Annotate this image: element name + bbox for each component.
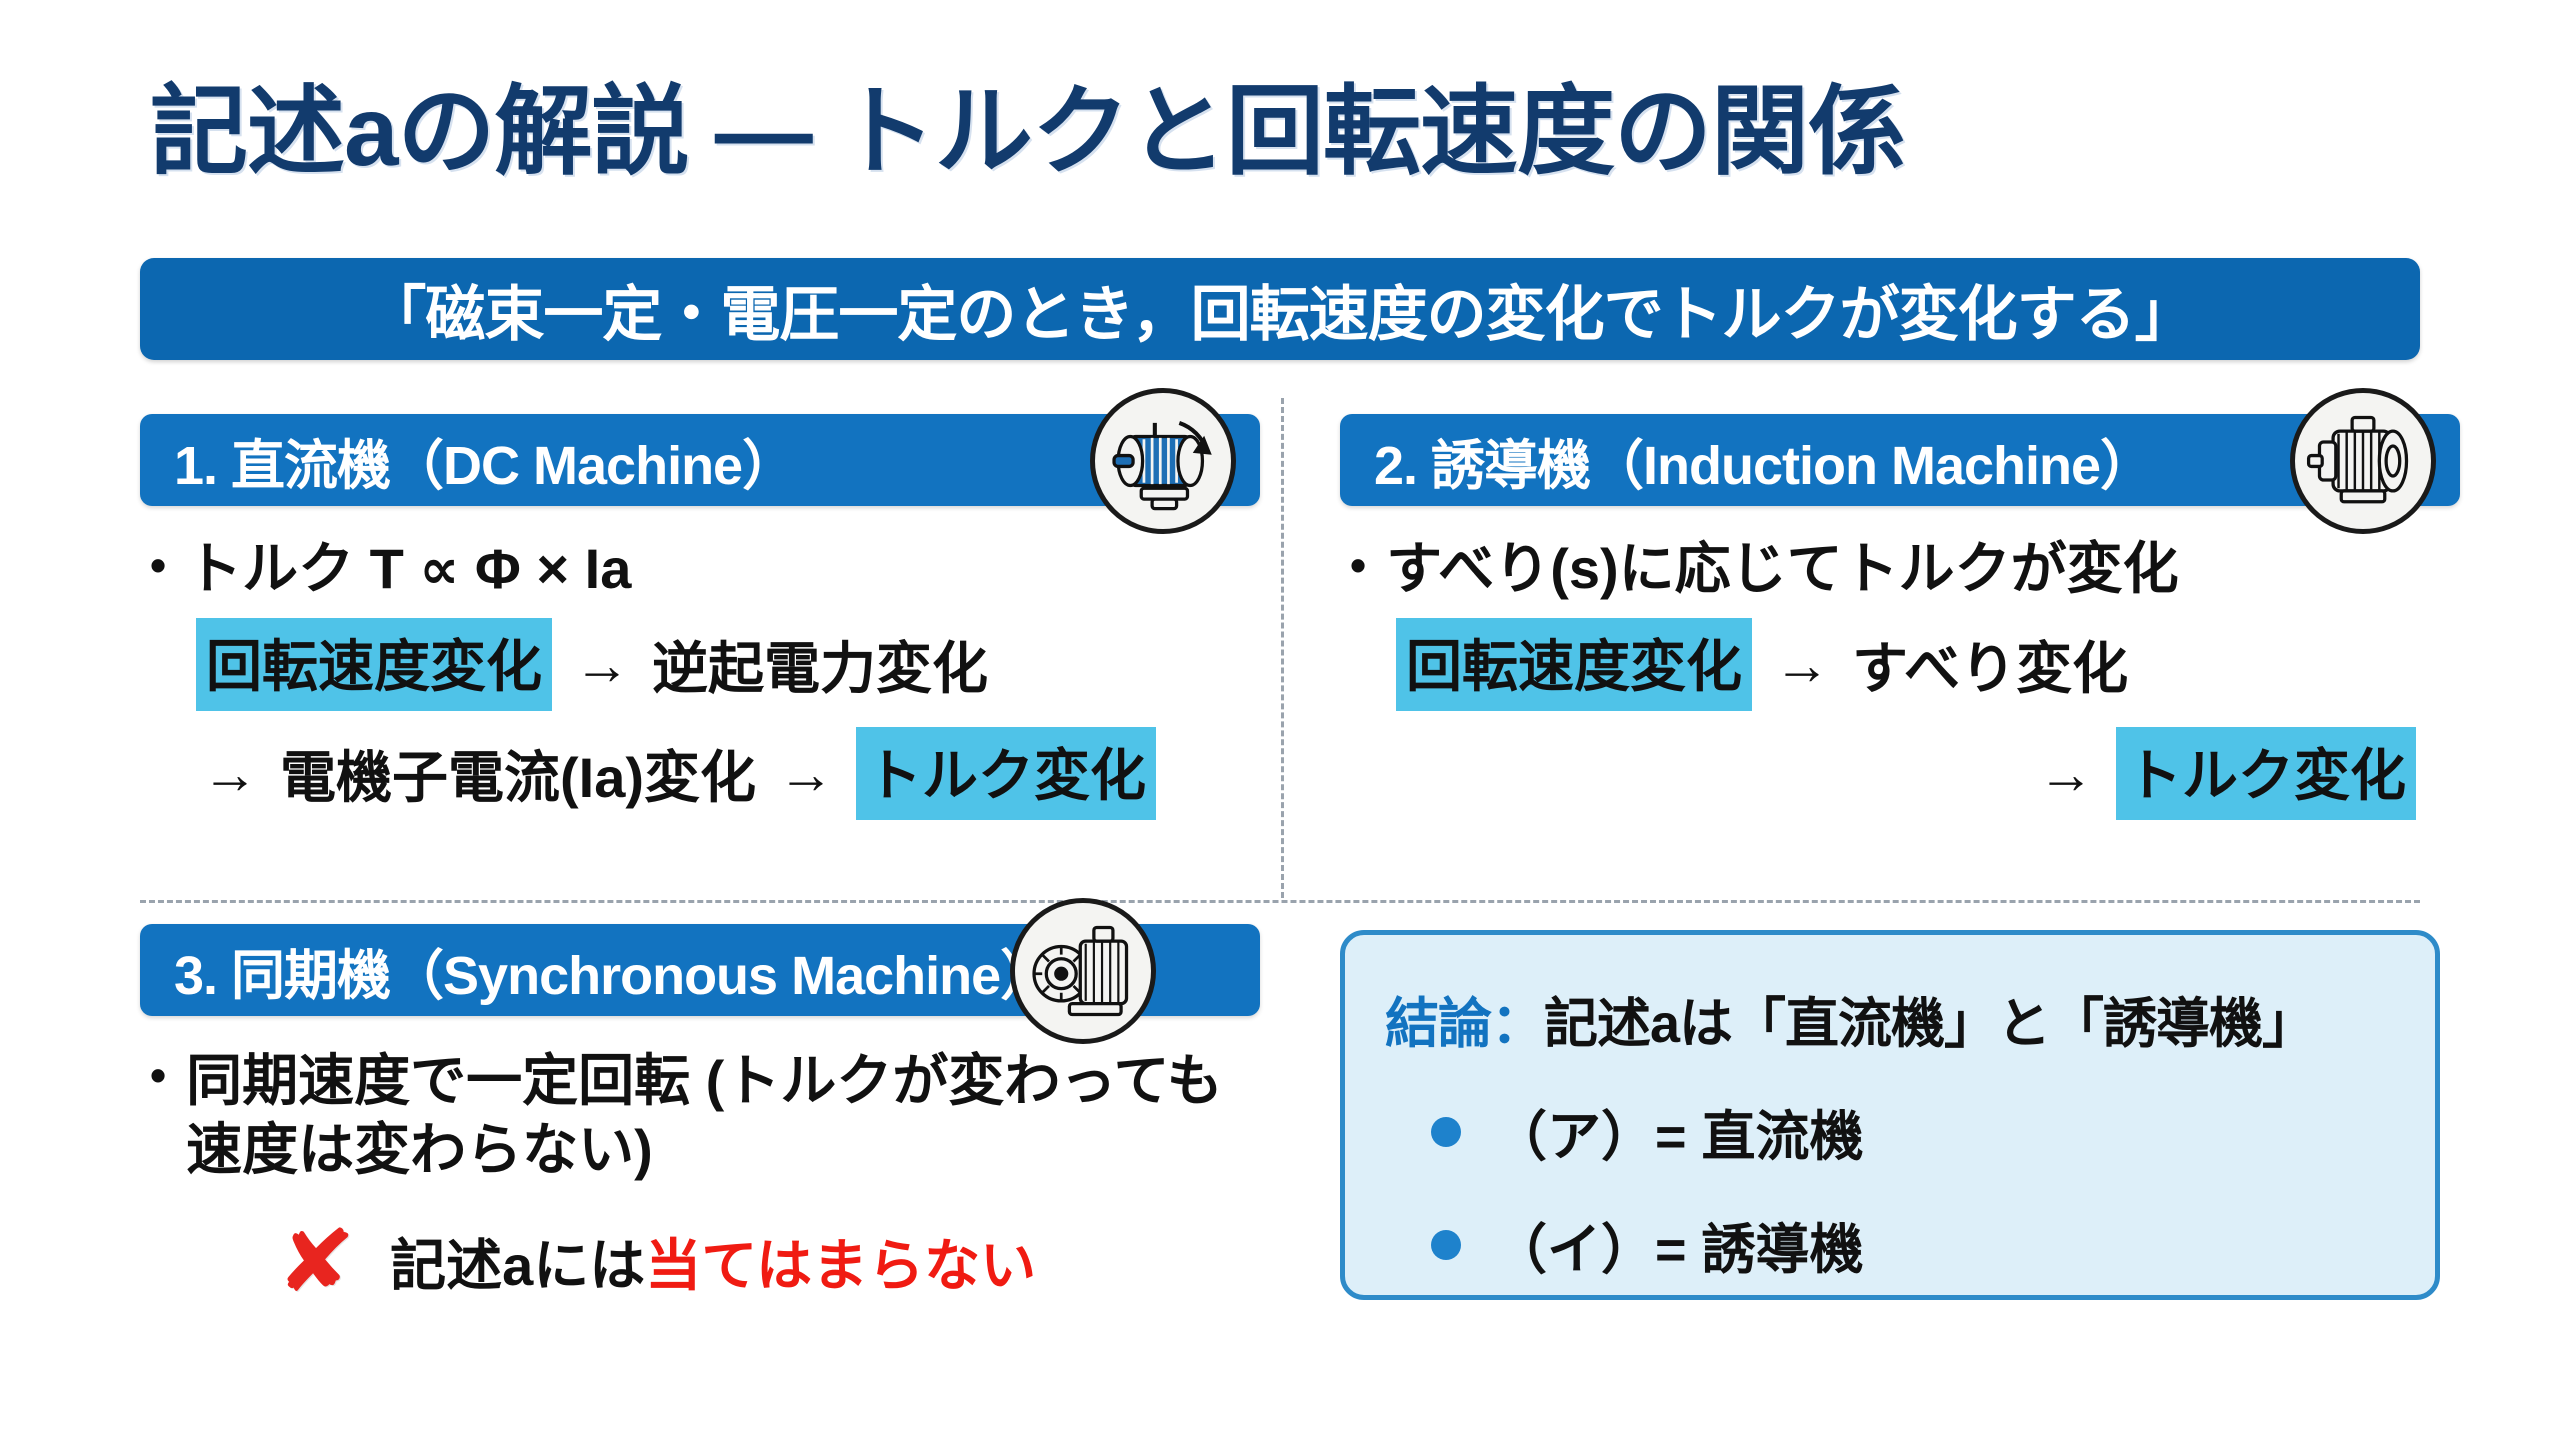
induction-bullet-text: すべり(s)に応じてトルクが変化 xyxy=(1386,536,2179,602)
induction-bullet: • すべり(s)に応じてトルクが変化 xyxy=(1340,536,2460,602)
dc-motor-icon xyxy=(1090,388,1236,534)
horizontal-divider xyxy=(140,900,2420,903)
conclusion-headline-rest: 記述aは「直流機」と「誘導機」 xyxy=(1544,994,2315,1054)
induction-flow1-tail: すべり変化 xyxy=(1852,624,2128,705)
sync-verdict-black: 記述aには xyxy=(390,1234,645,1297)
cross-mark-icon: ✘ xyxy=(276,1219,357,1305)
section-dc-machine: 1. 直流機（DC Machine） • トルク T ∝ Φ × xyxy=(140,414,1260,820)
sync-bullet: • 同期速度で一定回転 (トルクが変わっても速度は変わらない) xyxy=(140,1046,1260,1185)
bullet-circle-icon xyxy=(1431,1117,1461,1147)
section-header-induction: 2. 誘導機（Induction Machine） xyxy=(1340,414,2460,506)
conclusion-item-a: （ア）= 直流機 xyxy=(1385,1092,2395,1171)
dc-flow-line-2: → 電機子電流(Ia)変化 → トルク変化 xyxy=(140,727,1260,820)
dc-flow1-tail: 逆起電力変化 xyxy=(652,624,988,705)
bullet-dot-icon: • xyxy=(1350,536,1366,596)
section-header-sync: 3. 同期機（Synchronous Machine） xyxy=(140,924,1260,1016)
bullet-dot-icon: • xyxy=(150,1046,166,1106)
conclusion-headline: 結論：記述aは「直流機」と「誘導機」 xyxy=(1385,979,2395,1058)
conclusion-label: 結論： xyxy=(1385,994,1544,1054)
dc-bullet-formula: • トルク T ∝ Φ × Ia xyxy=(140,536,1260,602)
statement-banner: 「磁束一定・電圧一定のとき，回転速度の変化でトルクが変化する」 xyxy=(140,258,2420,360)
sync-verdict-red: 当てはまらない xyxy=(645,1234,1036,1297)
induction-flow-line-2: → トルク変化 xyxy=(1340,727,2460,820)
section-induction-machine: 2. 誘導機（Induction Machine） • すべり(s)に応じてトル… xyxy=(1340,414,2460,820)
section-header-induction-label: 2. 誘導機（Induction Machine） xyxy=(1340,421,2153,500)
conclusion-item-i-text: （イ）= 誘導機 xyxy=(1493,1205,1864,1284)
induction-flow-line-1: 回転速度変化 → すべり変化 xyxy=(1340,618,2460,711)
induction-flow1-highlight: 回転速度変化 xyxy=(1396,618,1752,711)
conclusion-item-a-text: （ア）= 直流機 xyxy=(1493,1092,1864,1171)
arrow-icon: → xyxy=(202,741,258,806)
bullet-dot-icon: • xyxy=(150,536,166,596)
arrow-icon: → xyxy=(778,741,834,806)
arrow-icon: → xyxy=(2038,741,2094,806)
section-synchronous-machine: 3. 同期機（Synchronous Machine） • 同期速度で一定回転 … xyxy=(140,924,1260,1305)
bullet-circle-icon xyxy=(1431,1230,1461,1260)
dc-flow1-highlight: 回転速度変化 xyxy=(196,618,552,711)
synchronous-motor-icon xyxy=(1010,898,1156,1044)
induction-flow2-highlight: トルク変化 xyxy=(2116,727,2416,820)
sync-bullet-text: 同期速度で一定回転 (トルクが変わっても速度は変わらない) xyxy=(186,1046,1260,1185)
conclusion-box: 結論：記述aは「直流機」と「誘導機」 （ア）= 直流機 （イ）= 誘導機 xyxy=(1340,930,2440,1300)
statement-text: 「磁束一定・電圧一定のとき，回転速度の変化でトルクが変化する」 xyxy=(366,266,2193,353)
dc-flow2-mid: 電機子電流(Ia)変化 xyxy=(280,733,756,814)
page-title: 記述aの解説 ― トルクと回転速度の関係 xyxy=(150,52,2450,194)
sync-verdict-text: 記述aには当てはまらない xyxy=(390,1221,1036,1302)
induction-motor-icon xyxy=(2290,388,2436,534)
sync-verdict-row: ✘ 記述aには当てはまらない xyxy=(140,1219,1260,1305)
conclusion-item-i: （イ）= 誘導機 xyxy=(1385,1205,2395,1284)
arrow-icon: → xyxy=(1774,632,1830,697)
section-header-dc-label: 1. 直流機（DC Machine） xyxy=(140,421,795,500)
section-header-sync-label: 3. 同期機（Synchronous Machine） xyxy=(140,931,1053,1010)
section-header-dc: 1. 直流機（DC Machine） xyxy=(140,414,1260,506)
dc-formula-text: トルク T ∝ Φ × Ia xyxy=(186,536,631,602)
dc-flow-line-1: 回転速度変化 → 逆起電力変化 xyxy=(140,618,1260,711)
vertical-divider xyxy=(1281,398,1284,898)
arrow-icon: → xyxy=(574,632,630,697)
dc-flow2-highlight: トルク変化 xyxy=(856,727,1156,820)
